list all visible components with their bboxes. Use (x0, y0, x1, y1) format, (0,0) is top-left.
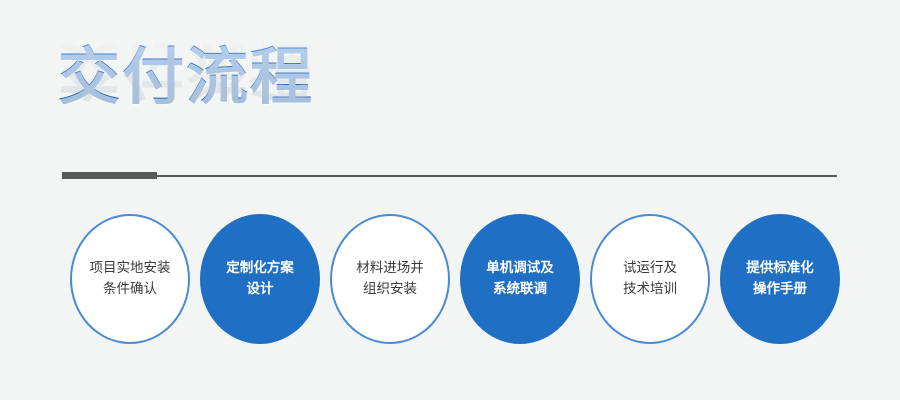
flow-node-1[interactable]: 项目实地安装 条件确认 (70, 214, 190, 344)
flow-node-5[interactable]: 试运行及 技术培训 (590, 214, 710, 344)
divider-accent-bar (62, 172, 157, 179)
flow-node-5-label: 试运行及 技术培训 (613, 258, 687, 300)
flow-node-4-label: 单机调试及 系统联调 (476, 258, 564, 300)
flow-node-6-label: 提供标准化 操作手册 (736, 258, 824, 300)
flow-node-1-label: 项目实地安装 条件确认 (80, 258, 181, 300)
page-title-reflection: 交付流程 (58, 34, 478, 104)
title-block: 交付流程 交付流程 (58, 42, 478, 152)
flow-node-2-label: 定制化方案 设计 (216, 258, 304, 300)
slide-canvas: 交付流程 交付流程 项目实地安装 条件确认 定制化方案 设计 材料进场并 组织安… (0, 0, 900, 400)
divider (62, 172, 837, 179)
flow-node-6[interactable]: 提供标准化 操作手册 (720, 214, 840, 344)
flow-node-2[interactable]: 定制化方案 设计 (200, 214, 320, 344)
flow-node-3-label: 材料进场并 组织安装 (346, 258, 434, 300)
flow-node-3[interactable]: 材料进场并 组织安装 (330, 214, 450, 344)
divider-line (157, 175, 837, 177)
flow-node-4[interactable]: 单机调试及 系统联调 (460, 214, 580, 344)
process-flow: 项目实地安装 条件确认 定制化方案 设计 材料进场并 组织安装 单机调试及 系统… (70, 214, 850, 344)
